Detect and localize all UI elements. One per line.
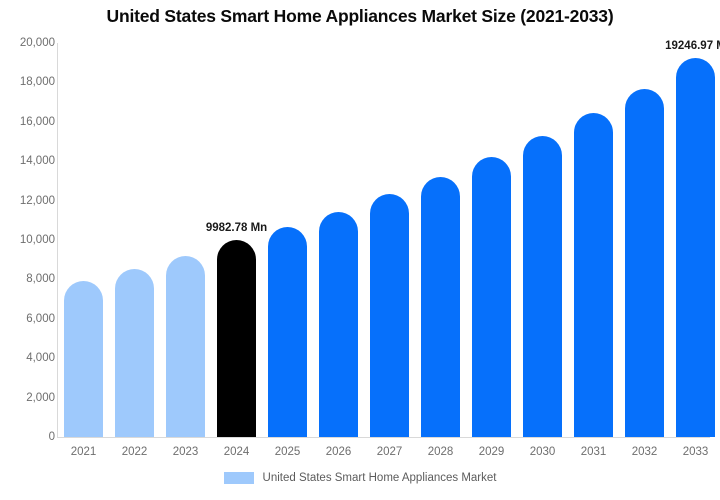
bar-group	[64, 43, 103, 437]
bar-group	[472, 43, 511, 437]
y-axis-tick-label: 14,000	[3, 155, 55, 167]
x-axis-tick-label: 2031	[574, 446, 613, 458]
bar[interactable]	[676, 58, 715, 437]
x-axis-tick-label: 2022	[115, 446, 154, 458]
bar[interactable]	[166, 256, 205, 437]
y-axis: 20,00018,00016,00014,00012,00010,0008,00…	[0, 0, 55, 500]
bar-group	[625, 43, 664, 437]
bar[interactable]	[319, 212, 358, 437]
bar-chart: United States Smart Home Appliances Mark…	[0, 0, 720, 500]
bar-group	[319, 43, 358, 437]
x-axis-tick-label: 2024	[217, 446, 256, 458]
x-axis-tick-label: 2021	[64, 446, 103, 458]
x-axis-tick-label: 2023	[166, 446, 205, 458]
x-axis-tick-label: 2027	[370, 446, 409, 458]
bar-group	[268, 43, 307, 437]
bar-value-label: 9982.78 Mn	[206, 222, 267, 234]
x-axis-tick-label: 2025	[268, 446, 307, 458]
bar-value-label: 19246.97 M	[665, 40, 720, 52]
bar-group: 9982.78 Mn	[217, 43, 256, 437]
bar-group	[166, 43, 205, 437]
bar[interactable]	[574, 113, 613, 437]
bar[interactable]	[370, 194, 409, 437]
y-axis-tick-label: 16,000	[3, 116, 55, 128]
y-axis-tick-label: 4,000	[3, 352, 55, 364]
y-axis-tick-label: 20,000	[3, 37, 55, 49]
y-axis-tick-label: 12,000	[3, 195, 55, 207]
x-axis-tick-label: 2026	[319, 446, 358, 458]
x-axis-tick-label: 2028	[421, 446, 460, 458]
x-axis-tick-label: 2029	[472, 446, 511, 458]
x-axis-tick-label: 2032	[625, 446, 664, 458]
y-axis-tick-label: 8,000	[3, 273, 55, 285]
bar-group	[523, 43, 562, 437]
bar[interactable]	[268, 227, 307, 437]
bar[interactable]	[217, 240, 256, 437]
bar-group: 19246.97 M	[676, 43, 715, 437]
chart-title: United States Smart Home Appliances Mark…	[0, 6, 720, 27]
bar[interactable]	[625, 89, 664, 437]
y-axis-tick-label: 10,000	[3, 234, 55, 246]
chart-legend: United States Smart Home Appliances Mark…	[0, 472, 720, 484]
y-axis-tick-label: 18,000	[3, 76, 55, 88]
bar[interactable]	[421, 177, 460, 437]
y-axis-tick-label: 6,000	[3, 313, 55, 325]
legend-item[interactable]: United States Smart Home Appliances Mark…	[224, 472, 497, 484]
x-axis-line	[57, 437, 710, 438]
bar[interactable]	[523, 136, 562, 437]
bar-group	[574, 43, 613, 437]
bar[interactable]	[472, 157, 511, 437]
bar[interactable]	[64, 281, 103, 437]
legend-swatch-icon	[224, 472, 254, 484]
bar-group	[370, 43, 409, 437]
bar[interactable]	[115, 269, 154, 437]
bar-group	[115, 43, 154, 437]
y-axis-tick-label: 0	[3, 431, 55, 443]
bar-group	[421, 43, 460, 437]
x-axis-tick-label: 2030	[523, 446, 562, 458]
legend-item-label: United States Smart Home Appliances Mark…	[263, 472, 497, 484]
y-axis-tick-label: 2,000	[3, 392, 55, 404]
x-axis-tick-label: 2033	[676, 446, 715, 458]
